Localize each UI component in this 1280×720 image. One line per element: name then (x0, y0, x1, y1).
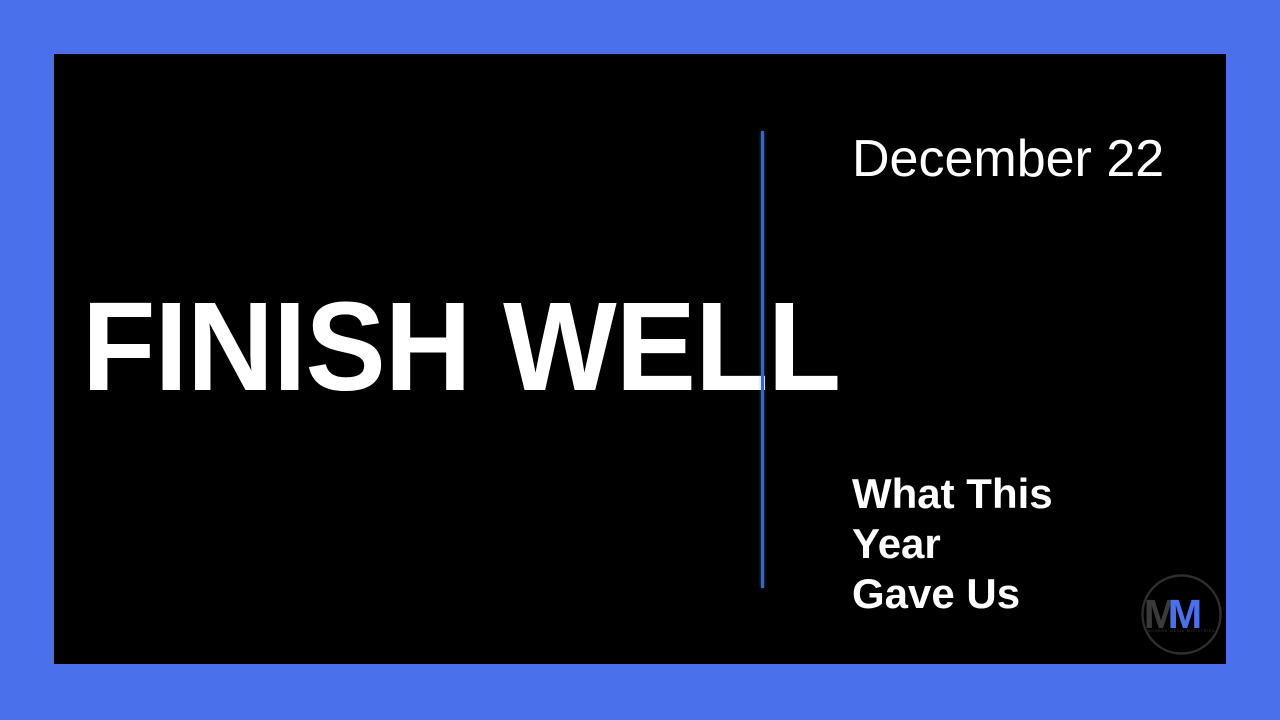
subtitle-line-1: What This Year (852, 469, 1152, 569)
subtitle-line-2: Gave Us (852, 569, 1152, 619)
monogram-mm-icon: M M (1140, 573, 1223, 656)
date-label: December 22 (852, 129, 1164, 189)
vertical-accent-rule-divider (761, 131, 764, 588)
page-title: FINISH WELL (82, 284, 741, 410)
subtitle: What This Year Gave Us (852, 469, 1152, 619)
brand-logo: M M MODERN MEDIA MINISTRIES (1140, 573, 1223, 656)
content-panel: FINISH WELL December 22 What This Year G… (54, 54, 1226, 664)
slide-canvas: FINISH WELL December 22 What This Year G… (0, 0, 1280, 720)
logo-microtext: MODERN MEDIA MINISTRIES (1140, 629, 1223, 633)
